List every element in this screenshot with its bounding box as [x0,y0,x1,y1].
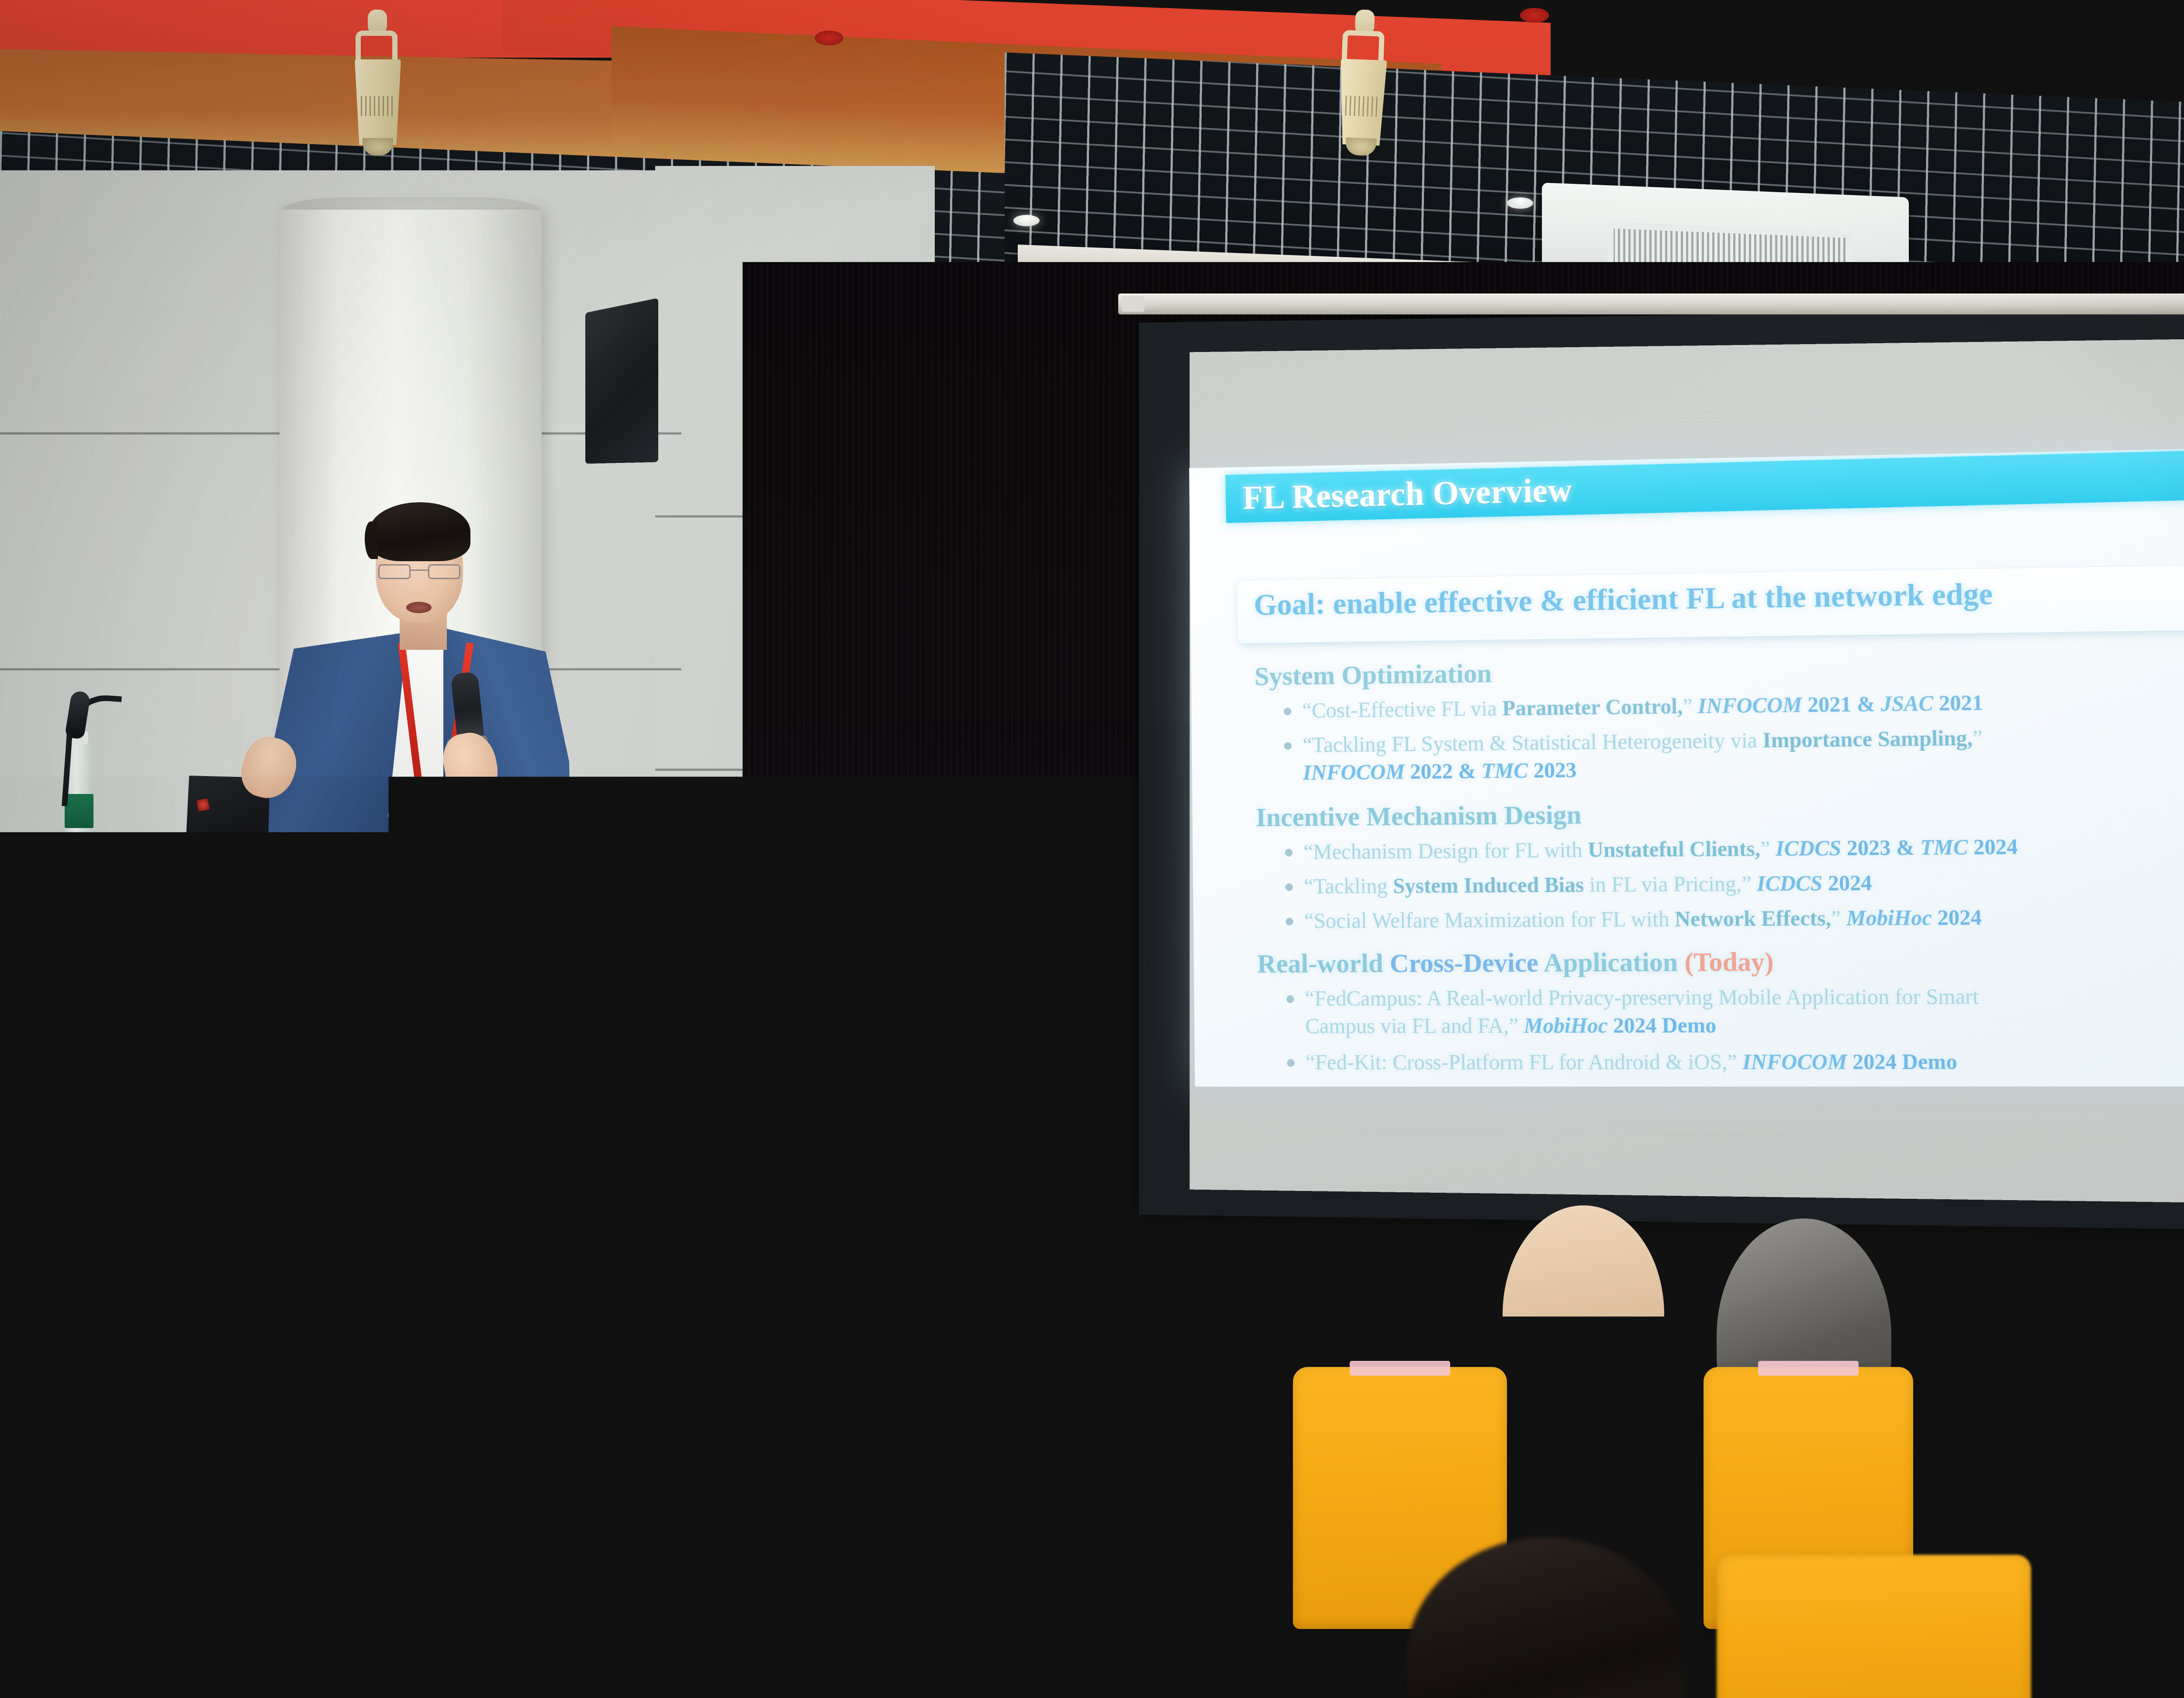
slide-text-run: ICDCS [1757,871,1823,896]
bullet-dot-icon [1286,995,1294,1003]
slide-text-run: Network Effects, [1675,906,1832,931]
slide-text-run: Unstateful Clients, [1588,836,1761,862]
audience-chair-front [301,1546,607,1698]
slide-text-run: MobiHoc [1846,905,1932,930]
slide-text-run: “FedCampus: A Real-world Privacy-preserv… [1305,984,1979,1010]
slide-text-run: ” [1831,906,1846,930]
slide-text-run: System Optimization [1254,659,1492,691]
slide-text-run: “Social Welfare Maximization for FL with [1304,907,1675,933]
slide-bullet-continuation: INFOCOM 2022 & TMC 2023 [1303,753,1983,785]
slide-text-run: ” [1683,694,1698,718]
presentation-slide: FL Research Overview Goal: enable effect… [1189,447,2184,1087]
emblem-inner-text: SJTU [210,1059,270,1118]
slide-text-run: 2024 [1968,834,2018,859]
speaker-legs [349,1004,489,1336]
audience-head [760,1258,943,1485]
auditorium-scene: FL Research Overview Goal: enable effect… [0,0,2184,1698]
slide-text-run: JSAC [1880,691,1933,716]
laptop-logo-icon [197,798,210,812]
slide-text-run: 2023 & [1841,835,1920,860]
ceiling-red-dot-icon [1520,8,1549,23]
slide-text-run: Campus via FL and FA,” [1305,1013,1524,1038]
slide-text-run: System Induced Bias [1393,872,1584,897]
slide-text-run: INFOCOM [1742,1049,1847,1074]
speaker-hair [369,502,470,561]
slide-text-run: Cross-Device [1389,948,1538,978]
projection-screen-roller [1118,293,2184,314]
slide-text-run: “Fed-Kit: Cross-Platform FL for Android … [1306,1049,1743,1074]
slide-text-run: “Tackling FL System & Statistical Hetero… [1303,728,1763,757]
slide-text-run: ICDCS [1776,835,1842,860]
slide-text-run: Real-world [1257,949,1390,978]
slide-text-run: (Today) [1684,947,1774,977]
slide-bullet: “Mechanism Design for FL with Unstateful… [1285,834,2018,864]
speaker-mouth [406,602,432,613]
bullet-dot-icon [1286,918,1293,925]
slide-text-run: MobiHoc [1524,1013,1608,1038]
slide-text-run: TMC [1481,758,1528,783]
slide-text-run: 2024 Demo [1847,1049,1957,1073]
slide-text-run: 2021 [1933,690,1983,715]
bullet-dot-icon [1285,849,1293,856]
audience-head-bald [1503,1205,1664,1424]
slide-text-run: ” [1760,836,1776,860]
slide-text-run: 2023 [1528,758,1577,783]
slide-section-heading: Incentive Mechanism Design [1256,800,1582,833]
slide-section-heading: Real-world Cross-Device Application (Tod… [1257,947,1774,980]
slide-title: FL Research Overview [1242,470,1572,518]
slide-text-run: “Cost-Effective FL via [1302,696,1502,722]
downlight-icon [1507,197,1533,209]
slide-bullet: “Tackling System Induced Bias in FL via … [1285,870,1872,899]
slide-text-run: TMC [1920,835,1968,859]
foreground-head [2175,1520,2184,1698]
slide-section-heading: System Optimization [1254,658,1492,692]
slide-text-run: 2024 Demo [1607,1013,1716,1037]
slide-text-run: Parameter Control, [1502,694,1683,720]
slide-text-run: in FL via Pricing,” [1584,871,1757,897]
slide-bullet: “Social Welfare Maximization for FL with… [1286,904,1982,933]
bullet-dot-icon [1284,707,1292,715]
slide-text-run: Application [1538,948,1685,978]
slide-bullet: “FedCampus: A Real-world Privacy-preserv… [1286,984,1979,1038]
bullet-dot-icon [1285,883,1293,891]
slide-text-run: 2021 & [1802,691,1881,717]
slide-text-run: Importance Sampling, [1762,725,1973,752]
wall-speaker-cabinet [585,298,658,464]
slide-text-run: Incentive Mechanism Design [1256,800,1582,832]
slide-text-run: 2024 [1822,870,1872,895]
slide-text-run: “Tackling [1304,873,1393,898]
slide-text-run: ” [1973,725,1983,750]
slide-text-run: 2022 & [1405,759,1482,783]
slide-text-run: INFOCOM [1698,692,1802,718]
bullet-dot-icon [1287,1059,1295,1066]
bullet-dot-icon [1284,742,1292,749]
slide-bullet-continuation: Campus via FL and FA,” MobiHoc 2024 Demo [1305,1012,1979,1039]
speaker-shoe [371,1316,447,1356]
speaker-name-badge [418,784,451,828]
slide-text-run: INFOCOM [1303,759,1405,785]
downlight-icon [1013,215,1040,226]
eyeglasses-icon [378,564,460,579]
audience-chair-front [1040,1555,1345,1698]
audience-chair-front [1717,1555,2031,1698]
slide-text-run: 2024 [1932,905,1982,930]
audience-chair [0,1376,205,1620]
slide-bullet: “Cost-Effective FL via Parameter Control… [1283,690,1983,723]
slide-text-run: “Mechanism Design for FL with [1303,838,1588,864]
ceiling-red-dot-icon [815,31,843,45]
slide-bullet: “Fed-Kit: Cross-Platform FL for Android … [1287,1049,1957,1074]
slide-bullet: “Tackling FL System & Statistical Hetero… [1284,725,1983,785]
